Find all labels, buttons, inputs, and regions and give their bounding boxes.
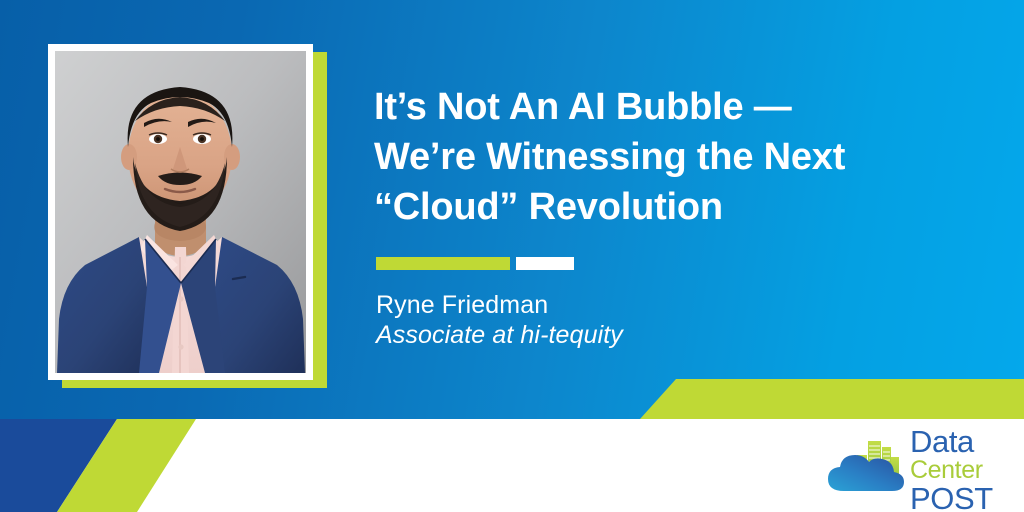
logo-wordmark: Data Center POST <box>910 427 1010 512</box>
title-line-2: We’re Witnessing the Next <box>374 132 974 182</box>
logo-line-post: POST <box>910 484 1010 512</box>
green-accent-wedge-right <box>640 379 1024 419</box>
title-line-3: “Cloud” Revolution <box>374 182 974 232</box>
logo-line-center: Center <box>910 458 1010 483</box>
accent-bars <box>376 257 574 270</box>
author-name: Ryne Friedman <box>376 291 623 321</box>
author-photo-frame <box>48 44 313 380</box>
accent-bar-white <box>516 257 574 270</box>
avatar <box>55 51 306 373</box>
brand-logo[interactable]: Data Center POST <box>824 427 1004 503</box>
accent-bar-green <box>376 257 510 270</box>
article-promo-banner: It’s Not An AI Bubble — We’re Witnessing… <box>0 0 1024 512</box>
logo-line-data: Data <box>910 427 1010 457</box>
author-byline: Ryne Friedman Associate at hi-tequity <box>376 291 623 350</box>
page-title: It’s Not An AI Bubble — We’re Witnessing… <box>374 82 974 232</box>
author-role: Associate at hi-tequity <box>376 321 623 351</box>
title-line-1: It’s Not An AI Bubble — <box>374 82 974 132</box>
headshot-portrait-icon <box>55 51 306 373</box>
cloud-buildings-icon <box>824 429 912 499</box>
